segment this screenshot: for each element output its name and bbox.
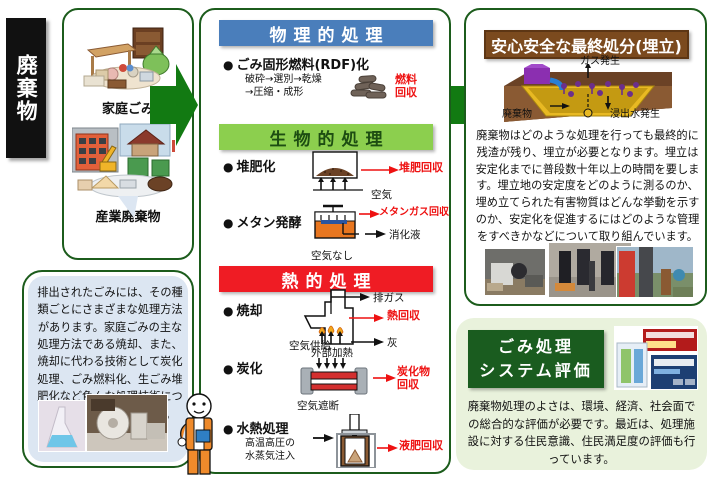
- evaluation-panel: ごみ処理 システム評価 廃棄物処理のよさは、環境、経済、社会面での総合的な評価が…: [456, 318, 707, 470]
- item-hydrothermal-recover: 液肥回収: [399, 440, 443, 453]
- landfill-body-text: 廃棄物はどのような処理を行っても最終的に残渣が残り、埋立が必要となります。埋立は…: [474, 128, 701, 246]
- methane-digester-diagram: [307, 202, 365, 250]
- carbonizer-diagram: [299, 358, 371, 398]
- item-hydrothermal-detail-line2: 水蒸気注入: [245, 451, 317, 464]
- item-compost-input-label: 空気: [371, 187, 392, 202]
- item-incineration-gas-label: 排ガス: [373, 290, 405, 305]
- compost-recover-arrow-icon: [361, 164, 401, 176]
- item-rdf-recover: 燃料 回収: [395, 74, 417, 99]
- item-rdf-detail-line1: 破砕→選別→乾燥: [245, 74, 353, 87]
- hydrothermal-recover-arrow-icon: [377, 442, 399, 454]
- bullet-icon: ●: [223, 362, 233, 376]
- section-header-biological: 生物的処理: [219, 124, 433, 150]
- evaluation-title-line2: システム評価: [479, 359, 593, 383]
- item-incineration-recover: 熱回収: [387, 310, 420, 323]
- heat-recover-arrow-icon: [349, 312, 385, 324]
- exhaust-gas-arrow-icon: [331, 291, 371, 303]
- item-hydrothermal-label: 水熱処理: [236, 422, 288, 437]
- item-methane-recover: メタンガス回収: [379, 207, 449, 219]
- item-compost: ●堆肥化: [223, 156, 276, 175]
- report-covers-photo: [614, 326, 698, 390]
- item-carbonization-recover-line2: 回収: [397, 379, 430, 392]
- item-hydrothermal: ●水熱処理: [223, 418, 289, 437]
- speech-bubble-tail: [118, 196, 138, 218]
- item-rdf-recover-line1: 燃料: [395, 74, 417, 87]
- waste-vertical-label: 廃棄物: [6, 18, 46, 158]
- item-methane-output-label: 消化液: [389, 227, 421, 242]
- item-compost-recover: 堆肥回収: [399, 162, 443, 175]
- methane-recover-arrow-icon: [359, 208, 381, 220]
- item-hydrothermal-detail: 高温高圧の 水蒸気注入: [245, 438, 317, 463]
- landfill-waste-label: 廃棄物: [502, 105, 532, 120]
- item-carbonization-input-label: 空気遮断: [297, 398, 339, 413]
- landfill-leachate-label: 浸出水発生: [610, 105, 660, 120]
- rdf-pellets-illustration: [349, 72, 389, 102]
- evaluation-title: ごみ処理 システム評価: [468, 330, 604, 388]
- bullet-icon: ●: [223, 160, 233, 174]
- researcher-character-illustration: [176, 392, 222, 476]
- item-compost-label: 堆肥化: [236, 160, 275, 175]
- item-carbonization-recover: 炭化物 回収: [397, 366, 430, 391]
- flask-photo: [38, 400, 86, 452]
- steam-inject-arrow-icon: [313, 432, 335, 444]
- item-carbonization-label: 炭化: [236, 362, 262, 377]
- item-hydrothermal-detail-line1: 高温高圧の: [245, 438, 317, 451]
- bullet-icon: ●: [223, 216, 233, 230]
- item-incineration-ash-label: 灰: [387, 335, 398, 350]
- methane-output-arrow-icon: [365, 228, 387, 240]
- section-header-physical: 物理的処理: [219, 20, 433, 46]
- item-rdf-detail-line2: →圧縮・成形: [245, 87, 353, 100]
- evaluation-title-line1: ごみ処理: [498, 335, 574, 359]
- bullet-icon: ●: [223, 58, 233, 72]
- compost-vessel-diagram: [305, 150, 365, 198]
- hydrothermal-reactor-diagram: [333, 414, 379, 468]
- item-carbonization: ●炭化: [223, 358, 263, 377]
- diagram-canvas: 家庭ごみ: [0, 0, 715, 480]
- item-methane: ●メタン発酵: [223, 212, 302, 231]
- item-methane-label: メタン発酵: [236, 216, 301, 231]
- fieldwork-photo-3: [616, 246, 694, 298]
- item-incineration-label: 焼却: [236, 304, 262, 319]
- process-arrow-1: [150, 62, 198, 148]
- research-note-panel: 排出されたごみには、その種類ごとにさまざまな処理方法があります。家庭ごみの主な処…: [22, 270, 194, 468]
- carbonization-recover-arrow-icon: [373, 372, 397, 384]
- item-methane-input-label: 空気なし: [311, 248, 353, 263]
- bullet-icon: ●: [223, 304, 233, 318]
- landfill-panel: 安心安全な最終処分(埋立): [464, 8, 707, 306]
- item-rdf-detail: 破砕→選別→乾燥 →圧縮・成形: [245, 74, 353, 99]
- treatment-panel: 物理的処理 ●ごみ固形燃料(RDF)化 破砕→選別→乾燥 →圧縮・成形 燃料 回…: [199, 8, 451, 474]
- item-rdf-label: ごみ固形燃料(RDF)化: [236, 58, 369, 73]
- ash-arrow-icon: [351, 336, 385, 348]
- item-rdf: ●ごみ固形燃料(RDF)化: [223, 54, 369, 73]
- item-rdf-recover-line2: 回収: [395, 87, 417, 100]
- fieldwork-photo-1: [484, 248, 546, 296]
- evaluation-body-text: 廃棄物処理のよさは、環境、経済、社会面での総合的な評価が必要です。最近は、処理施…: [466, 398, 697, 469]
- landfill-gas-label: ガス発生: [580, 52, 620, 67]
- item-carbonization-recover-line1: 炭化物: [397, 366, 430, 379]
- item-incineration: ●焼却: [223, 300, 263, 319]
- bullet-icon: ●: [223, 422, 233, 436]
- lab-equipment-photo: [86, 394, 168, 452]
